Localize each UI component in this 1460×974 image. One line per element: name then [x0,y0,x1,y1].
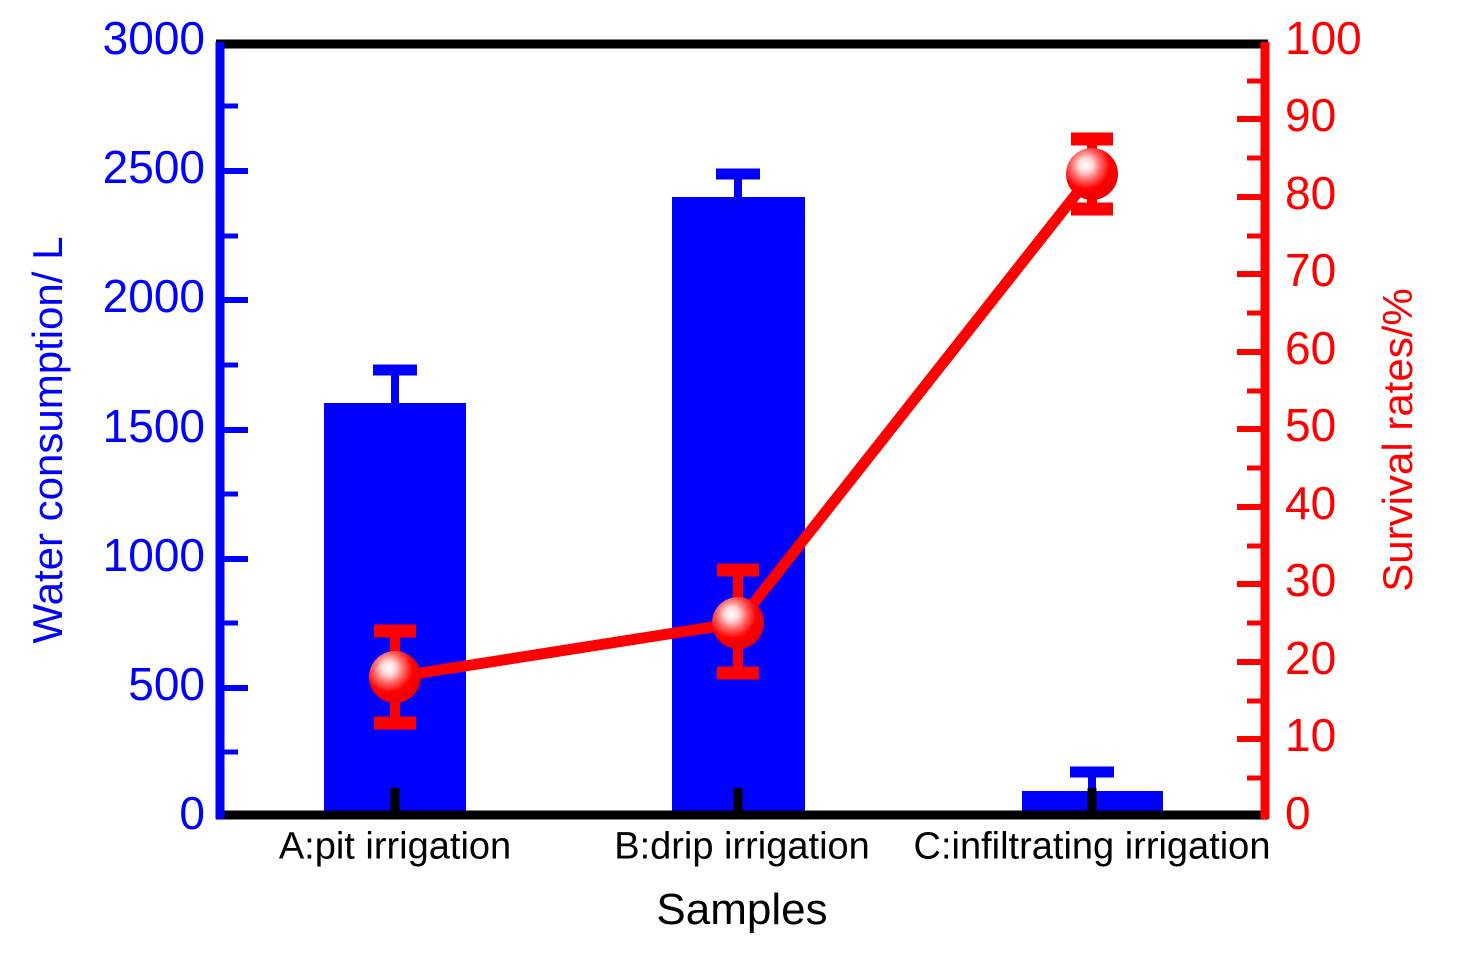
right-tick-label-20: 20 [1285,632,1336,684]
left-tick-label-2000: 2000 [103,270,205,322]
left-tick-label-0: 0 [179,787,205,839]
right-tick-label-0: 0 [1285,787,1311,839]
left-tick-label-1500: 1500 [103,400,205,452]
left-axis-tick-labels: 3000 2500 2000 1500 1000 500 0 [103,12,205,839]
category-label-c: C:infiltrating irrigation [914,825,1271,867]
category-label-b: B:drip irrigation [614,825,870,867]
left-tick-label-1000: 1000 [103,529,205,581]
chart-svg: 3000 2500 2000 1500 1000 500 0 100 [0,0,1460,974]
marker-c-infiltrating-irrigation [1066,148,1118,200]
bar-b-drip-irrigation [672,197,805,817]
right-axis-title: Survival rates/% [1374,288,1421,591]
left-tick-label-2500: 2500 [103,141,205,193]
bar-a-pit-irrigation [324,403,466,817]
right-tick-label-70: 70 [1285,244,1336,296]
marker-a-pit-irrigation [369,651,421,703]
left-tick-label-500: 500 [128,658,205,710]
right-tick-label-60: 60 [1285,322,1336,374]
left-tick-label-3000: 3000 [103,12,205,64]
right-tick-label-50: 50 [1285,399,1336,451]
right-tick-label-30: 30 [1285,554,1336,606]
right-tick-label-40: 40 [1285,477,1336,529]
category-label-a: A:pit irrigation [279,825,511,867]
right-axis-tick-labels: 100 90 80 70 60 50 40 30 20 10 0 [1285,12,1362,839]
right-tick-label-10: 10 [1285,709,1336,761]
category-labels: A:pit irrigation B:drip irrigation C:inf… [279,825,1271,867]
chart-figure: 3000 2500 2000 1500 1000 500 0 100 [0,0,1460,974]
right-tick-label-90: 90 [1285,89,1336,141]
right-tick-label-100: 100 [1285,12,1362,64]
right-tick-label-80: 80 [1285,167,1336,219]
x-axis-title: Samples [656,885,827,934]
left-axis-title: Water consumption/ L [24,237,71,644]
marker-b-drip-irrigation [712,597,764,649]
